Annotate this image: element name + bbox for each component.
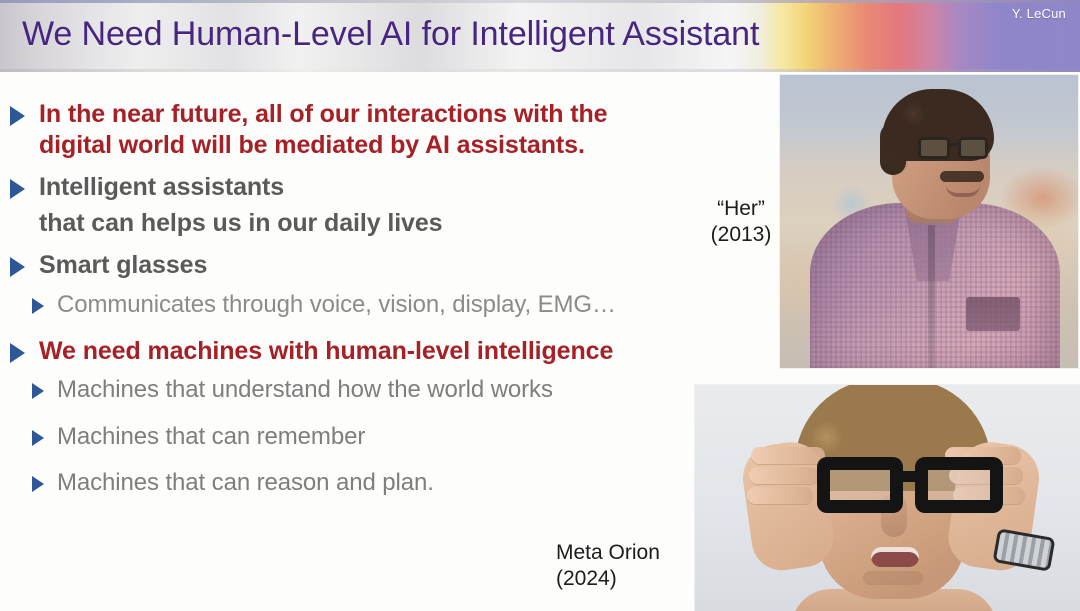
photo-orion-glasses-icon [817, 457, 1017, 513]
triangle-right-icon [32, 476, 44, 492]
bullet-line: In the near future, all of our interacti… [39, 99, 607, 130]
slide-canvas: We Need Human-Level AI for Intelligent A… [0, 0, 1080, 611]
photo-her-moustache [940, 171, 984, 182]
bullet-item-4: We need machines with human-level intell… [10, 336, 770, 367]
slide-title-band: We Need Human-Level AI for Intelligent A… [0, 0, 1080, 72]
caption-her: “Her” (2013) [700, 196, 782, 248]
bullet-text-4: We need machines with human-level intell… [39, 336, 613, 367]
bullet-item-3a: Communicates through voice, vision, disp… [32, 290, 792, 320]
photo-orion-finger [747, 487, 813, 504]
photo-orion-mouth [871, 547, 919, 567]
photo-her-placket [928, 225, 935, 368]
slide-body: In the near future, all of our interacti… [0, 72, 790, 611]
triangle-right-icon [10, 106, 25, 126]
bullet-item-2: Intelligent assistants that can helps us… [10, 172, 710, 243]
bullet-text-3a: Communicates through voice, vision, disp… [57, 290, 616, 320]
bullet-item-1: In the near future, all of our interacti… [10, 99, 770, 161]
bullet-line: digital world will be mediated by AI ass… [39, 130, 607, 161]
photo-her-glasses-icon [918, 137, 998, 161]
bullet-item-4a: Machines that understand how the world w… [32, 375, 732, 405]
bullet-text-4c: Machines that can reason and plan. [57, 468, 434, 498]
photo-meta-orion [695, 385, 1080, 611]
triangle-right-icon [10, 179, 25, 199]
triangle-right-icon [10, 343, 25, 363]
triangle-right-icon [32, 383, 44, 399]
triangle-right-icon [32, 430, 44, 446]
bullet-item-4c: Machines that can reason and plan. [32, 468, 632, 498]
caption-her-line2: (2013) [711, 223, 772, 246]
photo-her-lens-left [918, 137, 950, 159]
bullet-line: Intelligent assistants [39, 172, 442, 203]
caption-meta-orion: Meta Orion (2024) [556, 540, 696, 592]
triangle-right-icon [32, 298, 44, 314]
author-watermark: Y. LeCun [1012, 6, 1066, 21]
page-title: We Need Human-Level AI for Intelligent A… [22, 15, 759, 54]
bullet-text-4b: Machines that can remember [57, 422, 365, 452]
caption-orion-line1: Meta Orion [556, 541, 660, 564]
bullet-item-4b: Machines that can remember [32, 422, 632, 452]
bullet-text-3: Smart glasses [39, 250, 207, 281]
triangle-right-icon [10, 257, 25, 277]
photo-her-pocket [966, 297, 1020, 331]
caption-her-line1: “Her” [717, 197, 765, 220]
photo-her-eyebrow [926, 131, 988, 136]
photo-orion-lens-right [915, 457, 1003, 513]
photo-her-lens-right [958, 137, 988, 159]
photo-orion-finger [749, 467, 819, 484]
bullet-item-3: Smart glasses [10, 250, 510, 281]
title-band-top-edge [0, 0, 1080, 3]
bullet-text-4a: Machines that understand how the world w… [57, 375, 553, 405]
caption-orion-line2: (2024) [556, 567, 617, 590]
bullet-text-1: In the near future, all of our interacti… [39, 99, 607, 161]
photo-orion-chin-shadow [863, 571, 923, 585]
photo-orion-lens-left [817, 457, 903, 513]
photo-orion-finger [751, 447, 825, 464]
bullet-text-2: Intelligent assistants that can helps us… [39, 172, 442, 243]
bullet-line: that can helps us in our daily lives [39, 203, 442, 243]
photo-her [780, 75, 1078, 368]
